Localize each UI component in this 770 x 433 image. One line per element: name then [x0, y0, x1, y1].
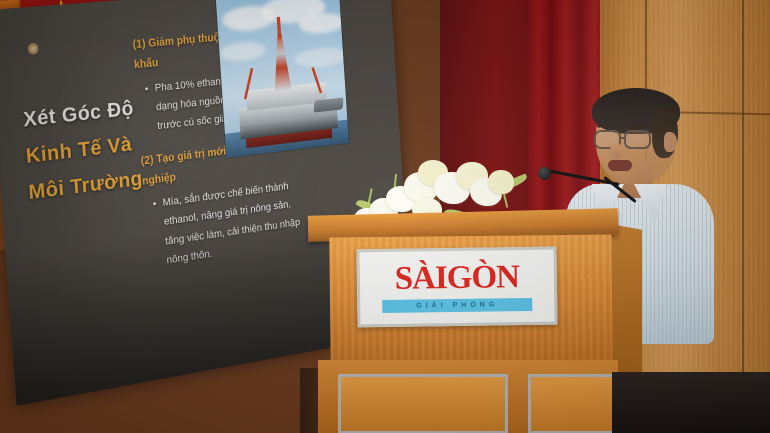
- conference-photo: Xét Góc Độ Kinh Tế Và Môi Trường (1) Giả…: [0, 0, 770, 433]
- slide-bullet-list-2: Mía, sắn được chế biến thành ethanol, nâ…: [152, 175, 311, 272]
- podium-sign: SÀIGÒN GIẢI PHÓNG: [356, 247, 557, 328]
- speaker-nose: [610, 144, 623, 159]
- speaker-mouth: [608, 160, 632, 171]
- floor-shadow: [612, 372, 770, 433]
- oil-rig-photo: [215, 0, 350, 159]
- eyeglasses-bridge: [621, 137, 626, 139]
- podium-base: [318, 360, 618, 433]
- podium-base-panel: [338, 374, 508, 433]
- cloud-shape: [294, 46, 347, 69]
- rig-derrick-tower: [271, 33, 291, 91]
- rig-helipad: [314, 97, 344, 112]
- projector-hotspot: [27, 42, 38, 56]
- slide-bullet-item: Mía, sắn được chế biến thành ethanol, nâ…: [152, 175, 311, 272]
- cloud-shape: [219, 40, 266, 63]
- podium-sign-subtitle: GIẢI PHÓNG: [382, 298, 532, 313]
- podium-base-panel: [528, 374, 618, 433]
- flower-petal: [488, 170, 514, 194]
- podium-sign-title: SÀIGÒN: [395, 261, 520, 296]
- wood-panel-seam: [742, 0, 744, 433]
- eyeglasses-icon: [624, 130, 651, 149]
- speaker-ear: [664, 132, 677, 152]
